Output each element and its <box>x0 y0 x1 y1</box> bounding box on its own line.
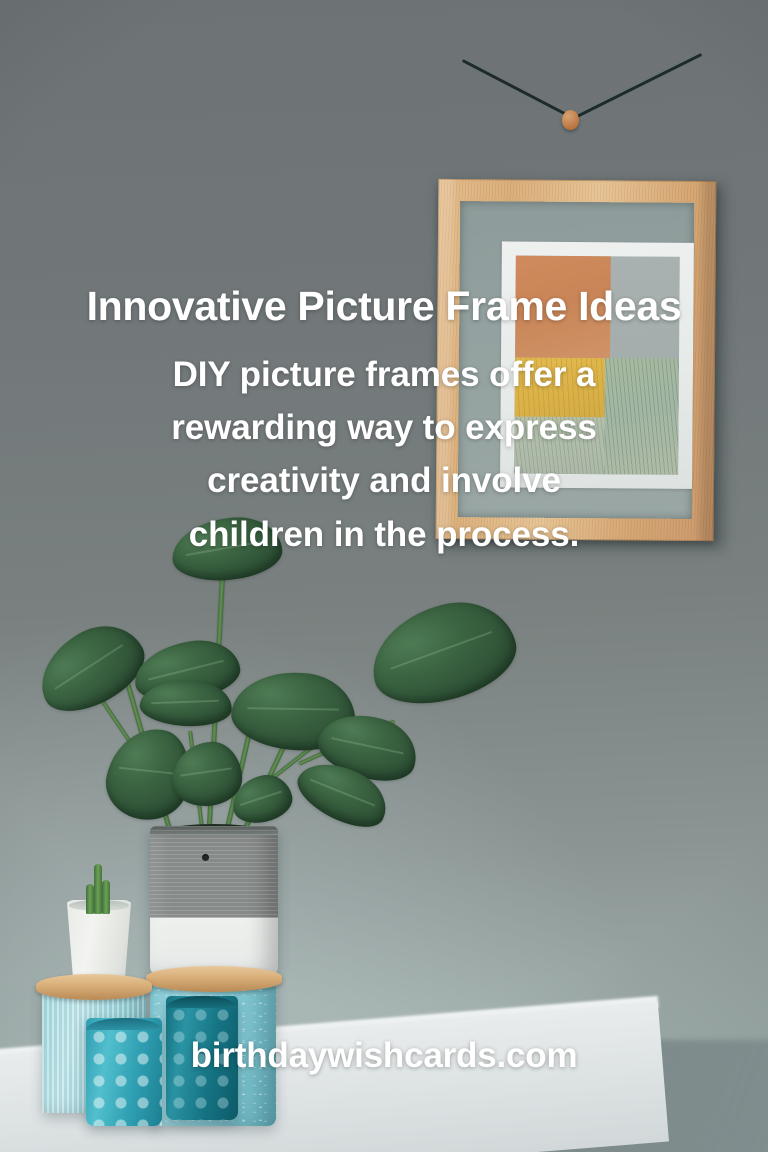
subtitle-line: creativity and involve <box>64 454 704 507</box>
website-watermark: birthdaywishcards.com <box>0 1036 768 1076</box>
subtitle-line: children in the process. <box>64 508 704 561</box>
page-title: Innovative Picture Frame Ideas <box>0 284 768 328</box>
pinterest-pin-graphic: Innovative Picture Frame Ideas DIY pictu… <box>0 0 768 1152</box>
subtitle-line: rewarding way to express <box>64 401 704 454</box>
subtitle-line: DIY picture frames offer a <box>64 348 704 401</box>
text-overlay: Innovative Picture Frame Ideas DIY pictu… <box>0 0 768 1152</box>
subtitle: DIY picture frames offer a rewarding way… <box>64 348 704 561</box>
